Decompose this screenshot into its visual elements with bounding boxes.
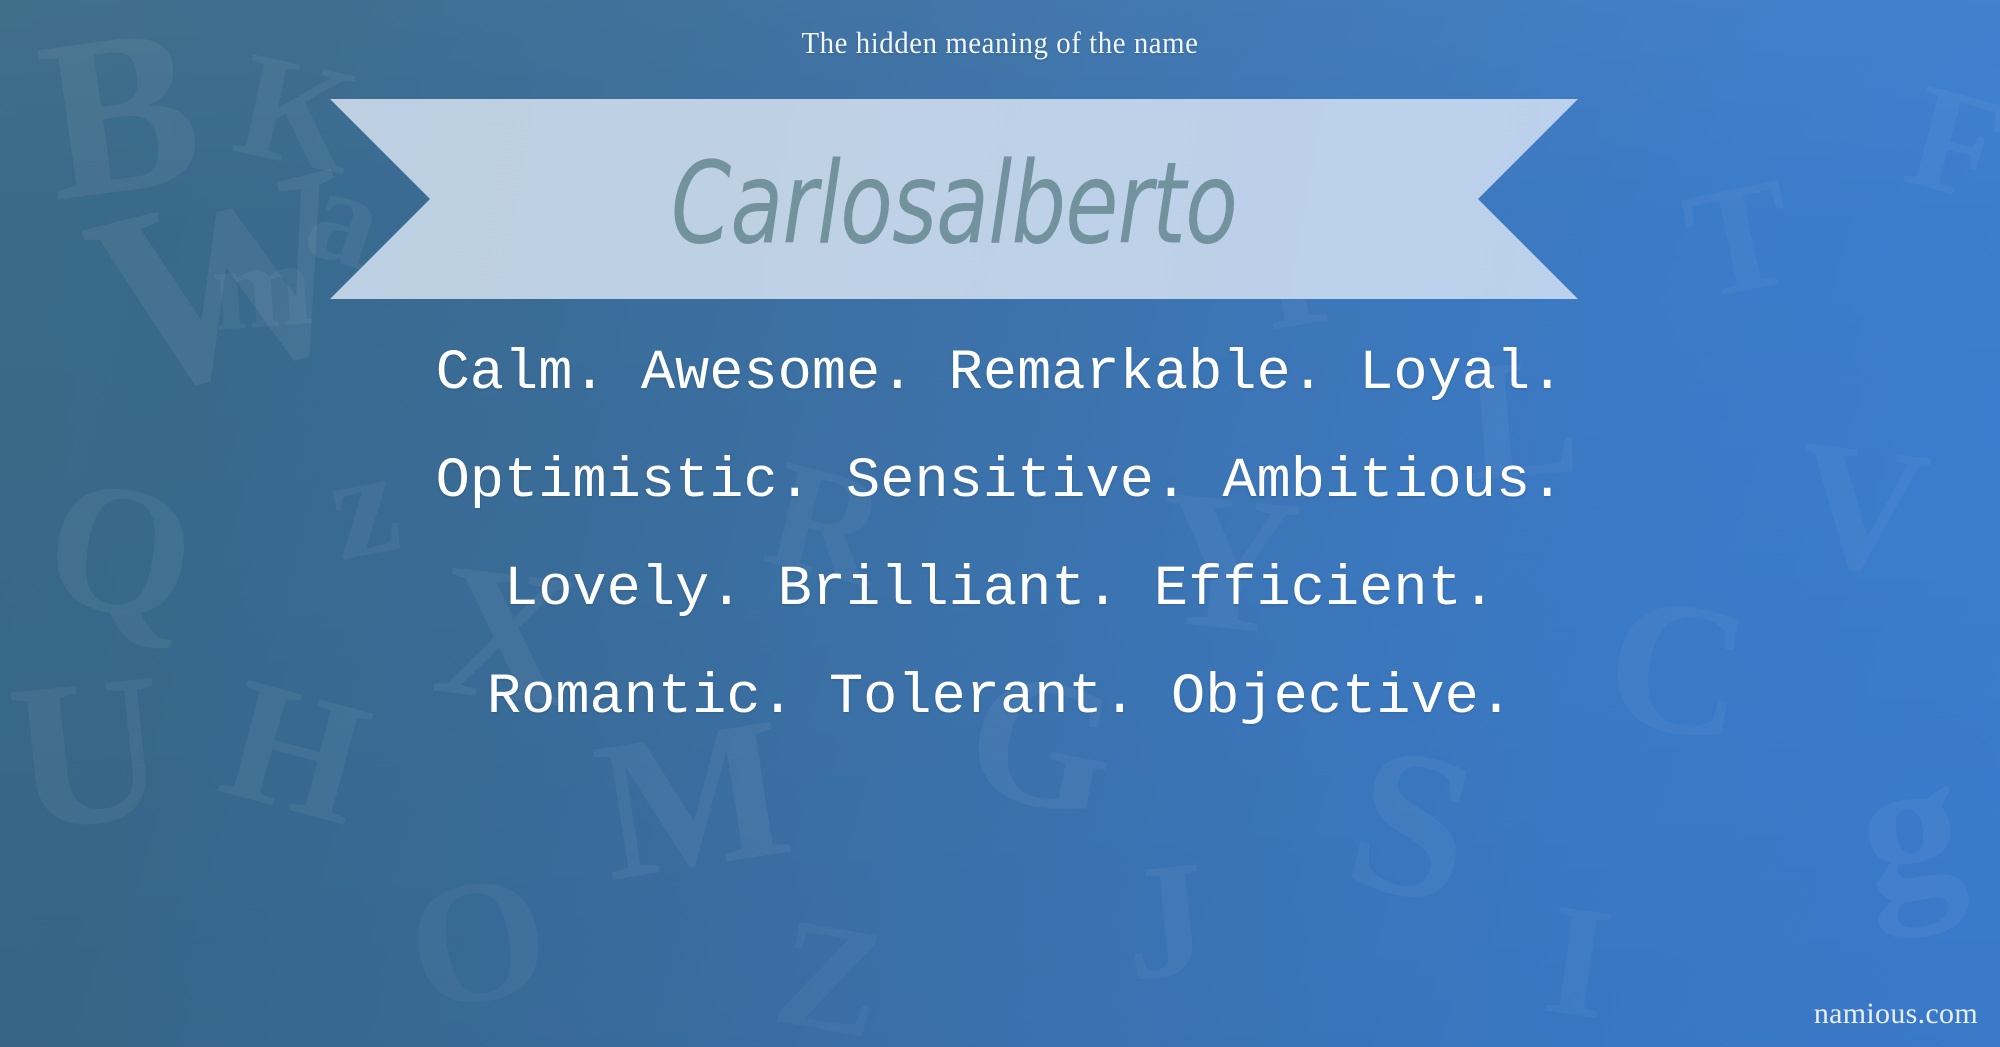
- svg-text:Z: Z: [764, 884, 896, 1047]
- svg-text:I: I: [1535, 868, 1621, 1047]
- name-text: Carlosalberto: [392, 81, 1515, 317]
- poster-canvas: B K W Q m a U H z X A N M R D G E Y P S: [0, 0, 2000, 1047]
- site-watermark: namious.com: [1814, 997, 1978, 1031]
- trait-line: Romantic. Tolerant. Objective.: [0, 644, 2000, 752]
- trait-list: Calm. Awesome. Remarkable. Loyal. Optimi…: [0, 320, 2000, 752]
- trait-line: Calm. Awesome. Remarkable. Loyal.: [0, 320, 2000, 428]
- svg-text:T: T: [1671, 144, 1808, 334]
- trait-line: Lovely. Brilliant. Efficient.: [0, 536, 2000, 644]
- page-title: The hidden meaning of the name: [70, 25, 1930, 61]
- name-banner: Carlosalberto: [330, 99, 1578, 299]
- svg-text:F: F: [1891, 52, 2000, 236]
- trait-line: Optimistic. Sensitive. Ambitious.: [0, 428, 2000, 536]
- svg-text:J: J: [1115, 825, 1216, 1016]
- svg-text:O: O: [396, 835, 561, 1047]
